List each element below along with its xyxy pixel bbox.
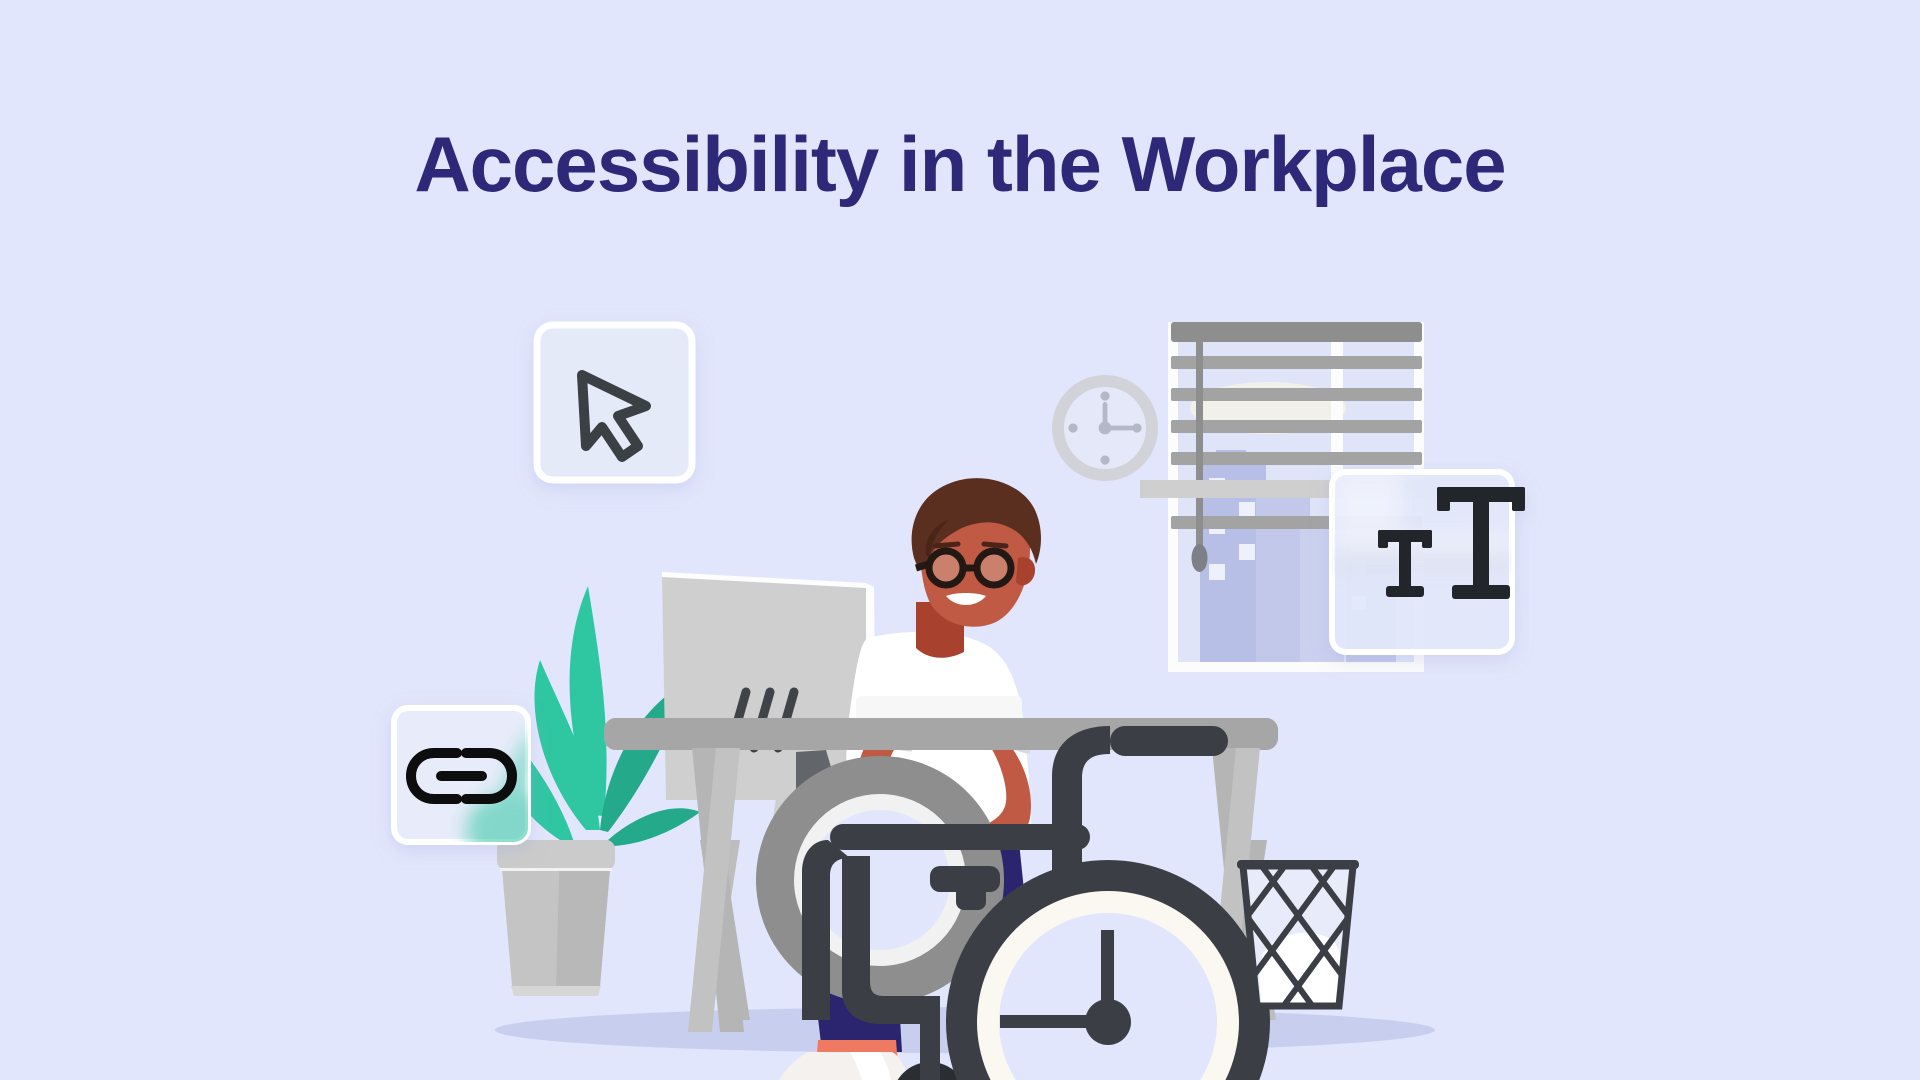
cursor-card[interactable]: [537, 325, 692, 480]
wheelchair-handle: [1052, 726, 1228, 840]
wheelchair-seat-rail: [830, 824, 1090, 850]
clock-marker-6: [1100, 455, 1109, 464]
wall-clock: [1052, 375, 1158, 481]
blind-head-rail: [1171, 322, 1422, 342]
plant-pot: [497, 840, 615, 996]
clock-marker-12: [1100, 391, 1109, 400]
text-size-card[interactable]: [1332, 472, 1525, 652]
clock-marker-9: [1068, 423, 1077, 432]
illustration-canvas: Accessibility in the Workplace: [0, 0, 1920, 1080]
worker-eyebrow: [935, 544, 958, 546]
scene-svg: [0, 140, 1920, 1080]
wheelchair-hub: [1085, 999, 1131, 1045]
clock-center: [1099, 422, 1112, 435]
worker-ear: [1016, 557, 1035, 585]
worker-shoe: [772, 1052, 916, 1080]
accessibility-workplace-illustration: [0, 140, 1920, 1080]
